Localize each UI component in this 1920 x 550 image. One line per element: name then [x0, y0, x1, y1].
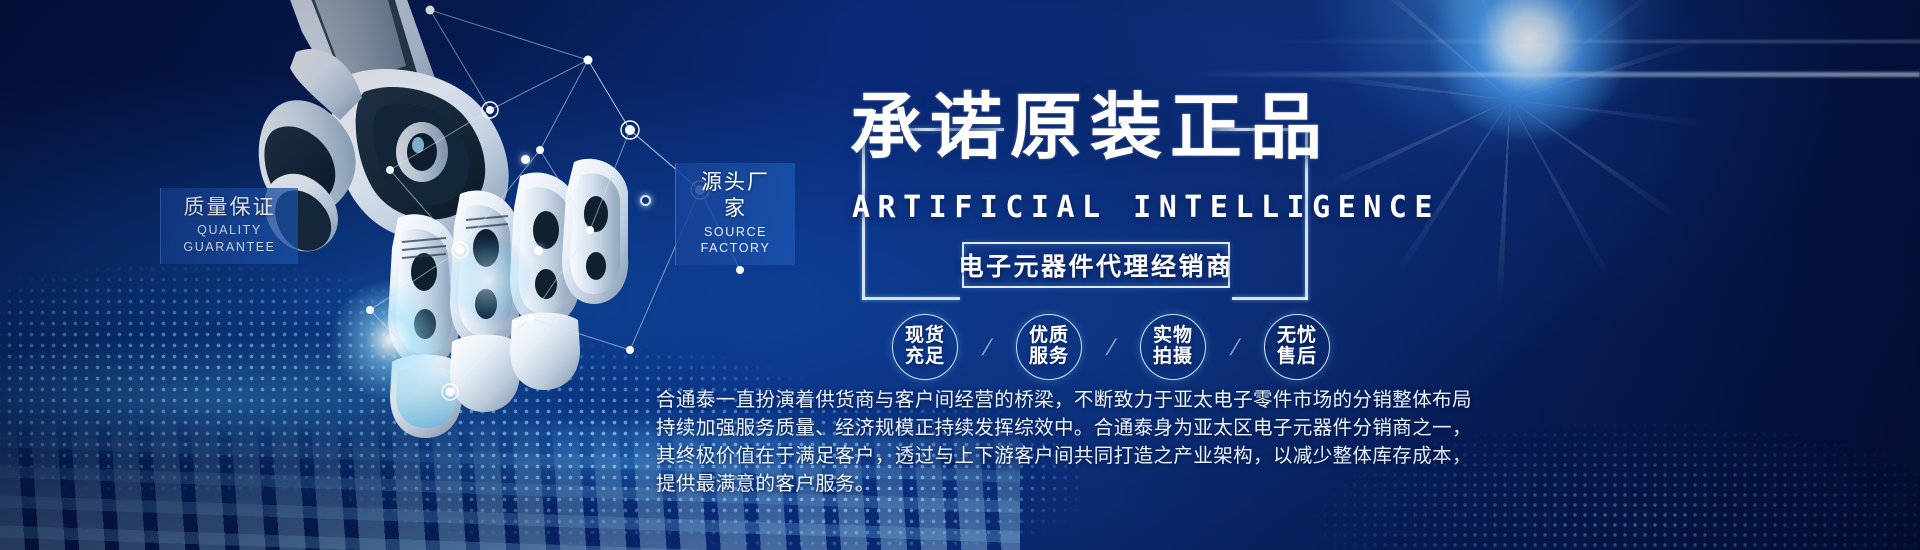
feature-after-sales-line2: 售后 [1277, 347, 1317, 368]
feature-stock-line2: 充足 [905, 347, 945, 368]
badge-quality-en: QUALITY GUARANTEE [175, 222, 284, 255]
feature-stock-line1: 现货 [905, 326, 945, 347]
banner-content: 承诺原装正品 ARTIFICIAL INTELLIGENCE 电子元器件代理经销… [800, 0, 1920, 550]
hero-banner: 质量保证 QUALITY GUARANTEE 源头厂家 SOURCE FACTO… [0, 0, 1920, 550]
frame-line-bottom-left [862, 297, 960, 300]
feature-stock: 现货 充足 [892, 314, 958, 380]
badge-source-en: SOURCE FACTORY [690, 224, 781, 257]
feature-real-photo-line1: 实物 [1153, 326, 1193, 347]
feature-list: 现货 充足 / 优质 服务 / 实物 拍摄 / 无忧 售后 [892, 312, 1512, 382]
subtitle-badge-label: 电子元器件代理经销商 [959, 247, 1234, 283]
badge-quality-cn: 质量保证 [175, 195, 284, 221]
network-node-icon [521, 155, 530, 164]
frame-line-bottom-right [1232, 297, 1308, 300]
feature-service-line2: 服务 [1029, 347, 1069, 368]
subtitle-badge: 电子元器件代理经销商 [962, 242, 1230, 288]
description-line-4: 提供最满意的客户服务。 [656, 470, 1716, 498]
description-line-1: 合通泰一直扮演着供货商与客户间经营的桥梁，不断致力于亚太电子零件市场的分销整体布… [656, 386, 1716, 414]
feature-after-sales: 无忧 售后 [1264, 314, 1330, 380]
feature-separator: / [1078, 334, 1145, 361]
feature-real-photo: 实物 拍摄 [1140, 314, 1206, 380]
description-line-2: 持续加强服务质量、经济规模正持续发挥综效中。合通泰身为亚太区电子元器件分销商之一… [656, 414, 1716, 442]
description-paragraph: 合通泰一直扮演着供货商与客户间经营的桥梁，不断致力于亚太电子零件市场的分销整体布… [656, 386, 1716, 498]
description-line-3: 其终极价值在于满足客户，透过与上下游客户间共同打造之产业架构，以减少整体库存成本… [656, 442, 1716, 470]
badge-source-cn: 源头厂家 [690, 170, 781, 223]
subtitle-english: ARTIFICIAL INTELLIGENCE [852, 190, 1552, 225]
feature-after-sales-line1: 无忧 [1277, 326, 1317, 347]
feature-real-photo-line2: 拍摄 [1153, 347, 1193, 368]
network-node-icon [534, 246, 543, 255]
badge-source-factory: 源头厂家 SOURCE FACTORY [675, 163, 795, 265]
feature-separator: / [1202, 334, 1269, 361]
feature-service: 优质 服务 [1016, 314, 1082, 380]
network-node-icon [640, 195, 651, 206]
feature-separator: / [954, 334, 1021, 361]
page-title: 承诺原装正品 [850, 92, 1550, 164]
badge-quality-guarantee: 质量保证 QUALITY GUARANTEE [160, 188, 298, 264]
feature-service-line1: 优质 [1029, 326, 1069, 347]
